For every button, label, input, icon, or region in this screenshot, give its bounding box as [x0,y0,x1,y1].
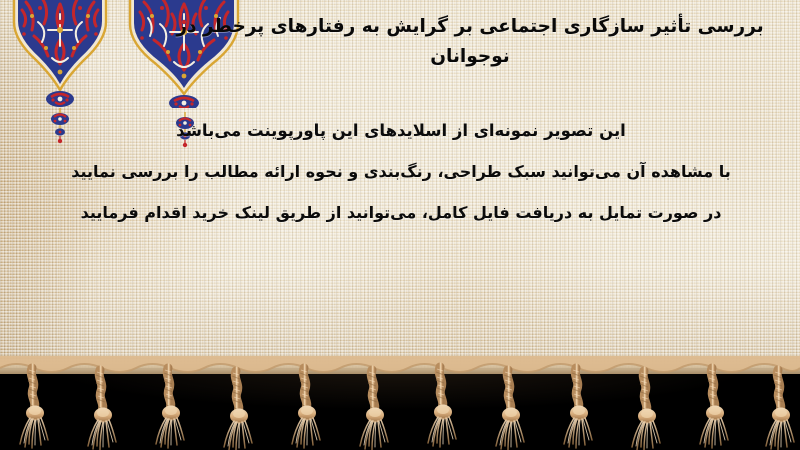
body-line-2: با مشاهده آن می‌توانید سبک طراحی، رنگ‌بن… [20,151,782,192]
body-line-3: در صورت تمایل به دریافت فایل کامل، می‌تو… [20,192,782,233]
slide-body: این تصویر نمونه‌ای از اسلایدهای این پاور… [20,110,782,233]
body-line-1: این تصویر نمونه‌ای از اسلایدهای این پاور… [20,110,782,151]
slide-title-line-2: نوجوانان [150,42,790,72]
slide-title: بررسی تأثیر سازگاری اجتماعی بر گرایش به … [150,12,790,72]
slide-title-line-1: بررسی تأثیر سازگاری اجتماعی بر گرایش به … [150,12,790,42]
presentation-slide: بررسی تأثیر سازگاری اجتماعی بر گرایش به … [0,0,800,450]
black-backdrop [0,368,800,450]
